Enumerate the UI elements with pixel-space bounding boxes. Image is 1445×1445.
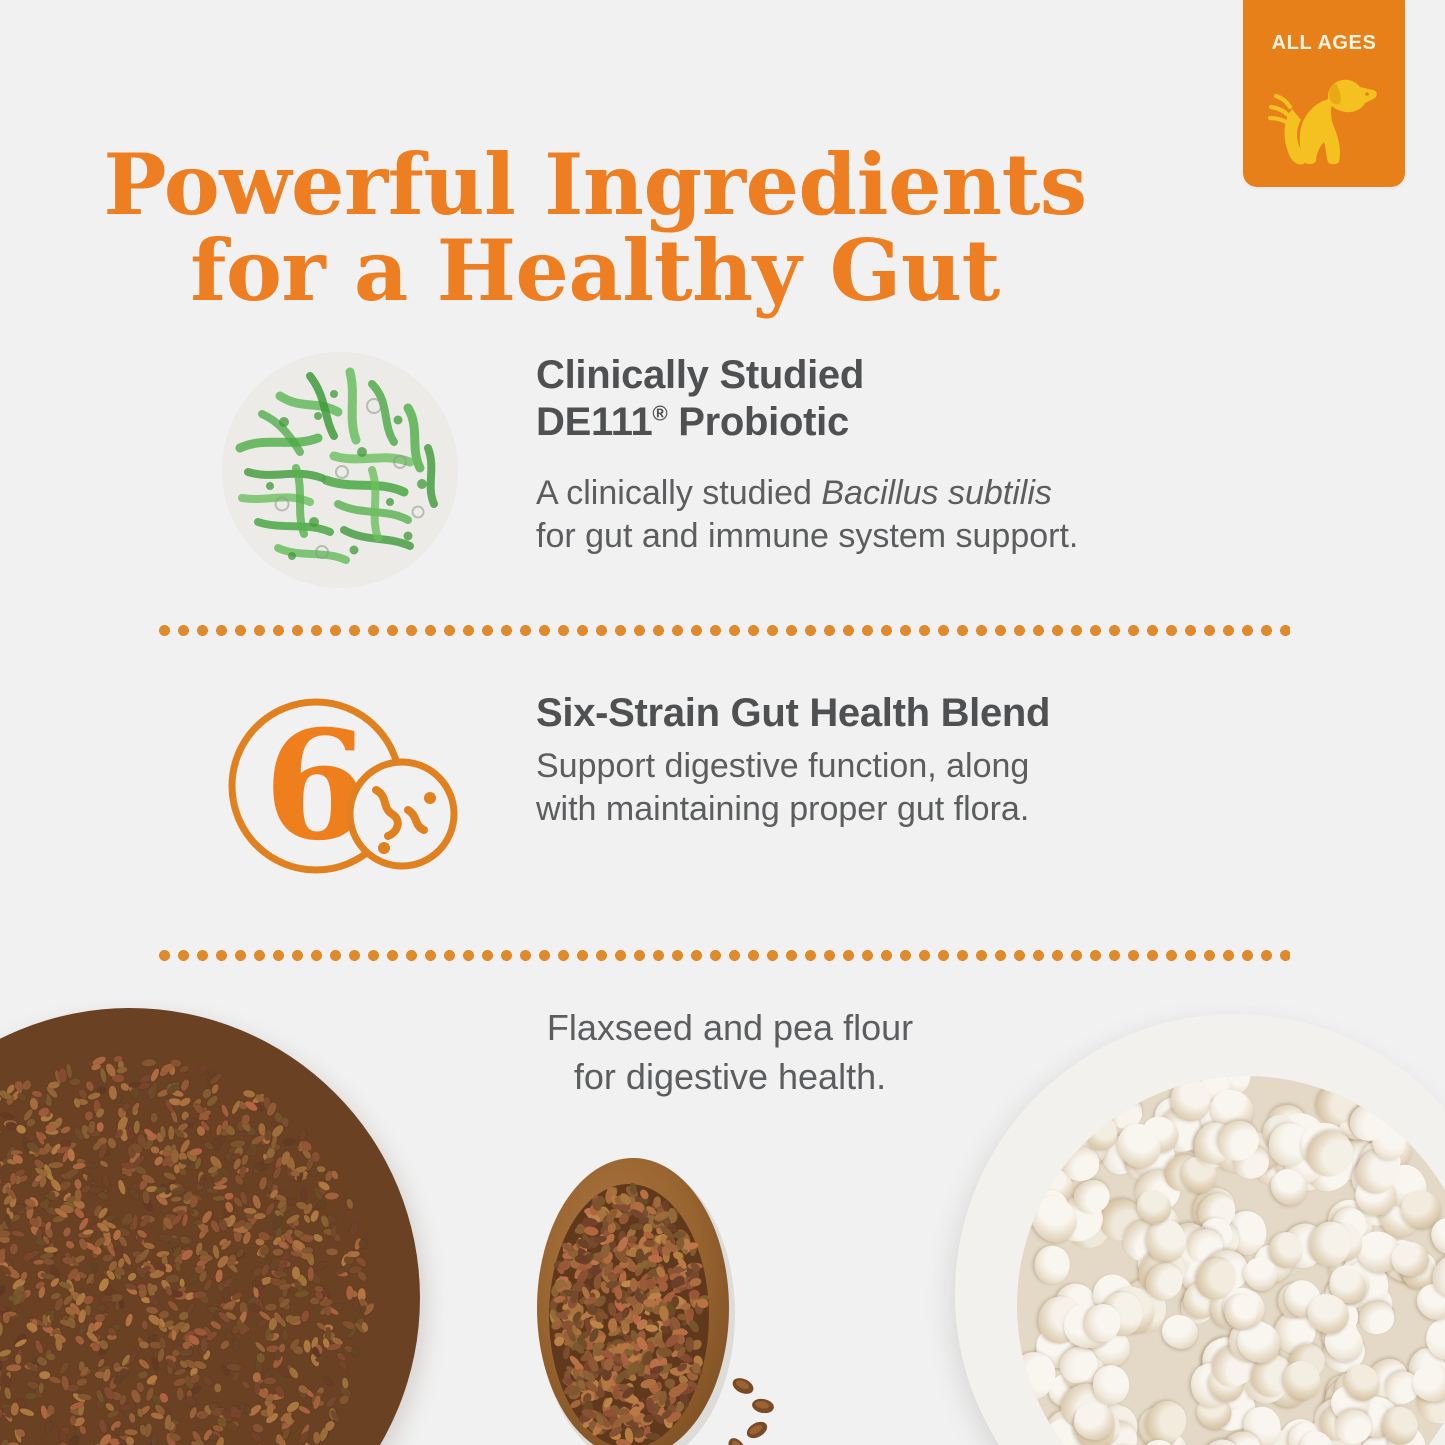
body-line-2: for gut and immune system support. <box>536 517 1078 555</box>
page-title-line-1: Powerful Ingredients <box>0 142 1190 228</box>
registered-mark: ® <box>652 402 667 425</box>
feature-blend: 6 Six-Strain Gut Health Blend Support di… <box>222 690 1302 886</box>
flaxseed-spoon-photo <box>525 1148 775 1445</box>
six-number: 6 <box>264 698 368 874</box>
feature-probiotic-heading-line-2: DE111® Probiotic <box>536 399 1302 446</box>
sitting-dog-icon <box>1268 66 1380 170</box>
page-title-line-2: for a Healthy Gut <box>0 228 1190 314</box>
divider-top <box>155 625 1290 636</box>
flaxseed-bowl-photo <box>0 1008 420 1445</box>
feature-blend-text: Six-Strain Gut Health Blend Support dige… <box>536 690 1302 832</box>
blend-body-line-2: with maintaining proper gut flora. <box>536 790 1029 828</box>
body-line-1-pre: A clinically studied <box>536 474 821 512</box>
blend-body-line-1: Support digestive function, along <box>536 747 1029 785</box>
feature-probiotic-heading: Clinically Studied DE111® Probiotic <box>536 352 1302 446</box>
divider-bottom <box>155 950 1290 961</box>
bottom-photo-strip <box>0 1000 1445 1445</box>
infographic-page: ALL AGES Powerful Ingredients for a Heal… <box>0 0 1445 1445</box>
probiotic-text: Probiotic <box>667 400 848 444</box>
all-ages-badge: ALL AGES <box>1243 0 1405 187</box>
chickpea-bowl-photo <box>955 1014 1445 1445</box>
feature-probiotic: Clinically Studied DE111® Probiotic A cl… <box>222 352 1302 588</box>
feature-probiotic-heading-line-1: Clinically Studied <box>536 352 1302 399</box>
microscope-bacteria-circle-icon <box>222 352 458 588</box>
feature-probiotic-text: Clinically Studied DE111® Probiotic A cl… <box>536 352 1302 559</box>
feature-blend-body: Support digestive function, along with m… <box>536 745 1302 832</box>
species-name: Bacillus subtilis <box>821 474 1052 512</box>
feature-blend-heading: Six-Strain Gut Health Blend <box>536 690 1302 737</box>
page-title: Powerful Ingredients for a Healthy Gut <box>0 142 1190 313</box>
all-ages-label: ALL AGES <box>1243 32 1405 55</box>
feature-probiotic-body: A clinically studied Bacillus subtilis f… <box>536 472 1302 559</box>
de111-text: DE111 <box>536 400 652 444</box>
six-strain-circle-icon: 6 <box>222 690 458 886</box>
